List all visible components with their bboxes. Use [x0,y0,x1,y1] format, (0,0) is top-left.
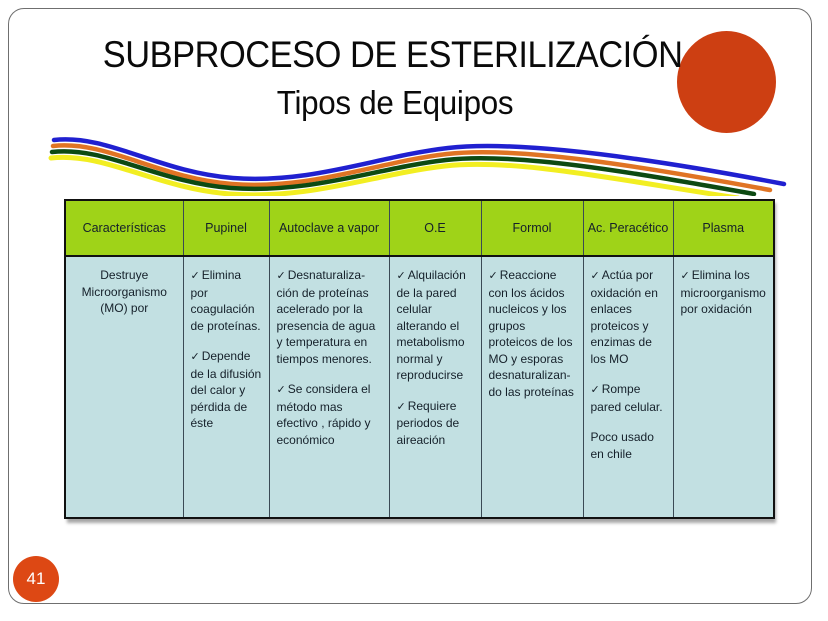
check-icon: ✓ [397,401,406,413]
column-header-formol: Formol [481,200,583,256]
checklist-item: ✓Reaccione con los ácidos nucleicos y lo… [489,267,576,400]
checklist-item: ✓Depende de la difusión del calor y pérd… [191,348,262,432]
column-header-autoclave: Autoclave a vapor [269,200,389,256]
checklist-item: ✓Requiere periodos de aireación [397,398,474,449]
item-text: Rompe pared celular. [591,382,663,414]
item-text: Elimina los microorganismo por oxidación [681,268,766,316]
slide: SUBPROCESO DE ESTERILIZACIÓN Tipos de Eq… [0,0,828,621]
checklist-item: ✓Se considera el método mas efectivo , r… [277,381,382,448]
wavy-ribbon-lines-icon [48,132,788,196]
check-icon: ✓ [397,270,406,282]
page-number-badge: 41 [13,556,59,602]
item-text: Reaccione con los ácidos nucleicos y los… [489,268,574,399]
checklist-item: ✓Desnaturaliza-ción de proteínas acelera… [277,267,382,367]
table-row: Destruye Microorganismo (MO) por ✓Elimin… [65,256,774,518]
column-header-acido-peracetico: Ac. Peracético [583,200,673,256]
check-icon: ✓ [191,270,200,282]
item-text: Poco usado en chile [591,430,654,461]
check-icon: ✓ [591,384,600,396]
checklist-item: ✓Elimina por coagulación de proteínas. [191,267,262,334]
item-text: Se considera el método mas efectivo , rá… [277,382,371,447]
checklist-item: ✓Alquilación de la pared celular alteran… [397,267,474,384]
column-header-plasma: Plasma [673,200,774,256]
item-text: Desnaturaliza-ción de proteínas acelerad… [277,268,376,366]
checklist-item: ✓Actúa por oxidación en enlaces proteico… [591,267,666,367]
item-text: Depende de la difusión del calor y pérdi… [191,349,262,430]
cell-plasma: ✓Elimina los microorganismo por oxidació… [673,256,774,518]
column-header-caracteristicas: Características [65,200,183,256]
table-header-row: Características Pupinel Autoclave a vapo… [65,200,774,256]
item-text: Alquilación de la pared celular alterand… [397,268,466,382]
check-icon: ✓ [277,270,286,282]
check-icon: ✓ [277,384,286,396]
item-text: Actúa por oxidación en enlaces proteicos… [591,268,658,366]
row-label-destruye-mo: Destruye Microorganismo (MO) por [65,256,183,518]
cell-oe: ✓Alquilación de la pared celular alteran… [389,256,481,518]
check-icon: ✓ [681,270,690,282]
checklist-item: ✓Elimina los microorganismo por oxidació… [681,267,767,318]
note-line: Poco usado en chile [591,429,666,462]
cell-autoclave: ✓Desnaturaliza-ción de proteínas acelera… [269,256,389,518]
cell-formol: ✓Reaccione con los ácidos nucleicos y lo… [481,256,583,518]
cell-acido-peracetico: ✓Actúa por oxidación en enlaces proteico… [583,256,673,518]
check-icon: ✓ [489,270,498,282]
column-header-oe: O.E [389,200,481,256]
column-header-pupinel: Pupinel [183,200,269,256]
cell-pupinel: ✓Elimina por coagulación de proteínas.✓D… [183,256,269,518]
check-icon: ✓ [191,351,200,363]
equipment-types-table: Características Pupinel Autoclave a vapo… [64,199,773,519]
item-text: Elimina por coagulación de proteínas. [191,268,261,333]
orange-circle-icon [677,31,776,133]
checklist-item: ✓Rompe pared celular. [591,381,666,415]
check-icon: ✓ [591,270,600,282]
